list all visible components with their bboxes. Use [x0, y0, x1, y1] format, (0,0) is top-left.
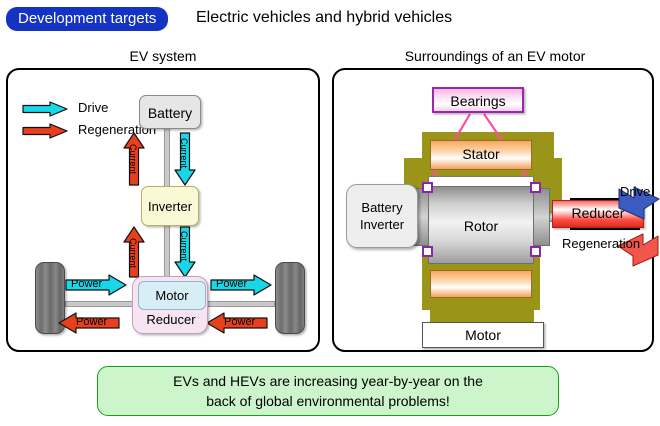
- bearing-marker-top-right: [530, 182, 541, 193]
- wire-battery-inverter: [164, 127, 170, 189]
- development-targets-badge: Development targets: [6, 7, 168, 31]
- current-label-up: Current: [128, 144, 138, 174]
- battery-inverter-line2: Inverter: [360, 216, 404, 233]
- axle-left: [65, 301, 135, 307]
- stator-bottom: [430, 270, 532, 298]
- page-title: Electric vehicles and hybrid vehicles: [196, 8, 452, 28]
- legend-label-drive: Drive: [78, 100, 108, 115]
- header: Development targets Electric vehicles an…: [0, 4, 660, 34]
- summary-banner: EVs and HEVs are increasing year-by-year…: [97, 366, 559, 416]
- power-label-regen-left: Power: [76, 316, 107, 328]
- diagram-root: Development targets Electric vehicles an…: [0, 0, 660, 426]
- battery-inverter-box: Battery Inverter: [346, 184, 418, 248]
- battery-box: Battery: [139, 95, 201, 129]
- current-label-up-2: Current: [128, 238, 138, 268]
- banner-line-2: back of global environmental problems!: [206, 391, 450, 411]
- current-arrow-down-drive-2: Current: [174, 226, 196, 278]
- power-arrow-drive-left: Power: [65, 274, 127, 296]
- endbell-right: [532, 188, 550, 246]
- power-label-drive-right: Power: [216, 278, 247, 290]
- wire-inverter-motor: [164, 222, 170, 280]
- inverter-box: Inverter: [141, 186, 199, 226]
- regeneration-arrow-icon: [22, 123, 68, 139]
- right-panel-title: Surroundings of an EV motor: [338, 48, 652, 64]
- tire-right: [275, 262, 305, 334]
- bearing-marker-bottom-left: [422, 246, 433, 257]
- rotor-box: Rotor: [428, 186, 534, 264]
- current-arrow-up-regen-2: Current: [123, 226, 145, 278]
- bearing-marker-top-left: [422, 182, 433, 193]
- power-label-regen-right: Power: [224, 316, 255, 328]
- axle-right: [205, 301, 275, 307]
- power-arrow-drive-right: Power: [210, 274, 272, 296]
- motor-label: Motor: [138, 281, 206, 310]
- ev-motor-panel: Bearings Stator Rotor Battery Inverter R…: [332, 68, 654, 352]
- current-label-down: Current: [179, 138, 189, 168]
- stator-top: Stator: [430, 140, 532, 170]
- drive-label: Drive: [620, 184, 650, 199]
- current-arrow-down-drive: Current: [174, 132, 196, 186]
- reducer-label: Reducer: [133, 309, 209, 331]
- ev-system-panel: Drive Regeneration Battery: [6, 68, 320, 352]
- regeneration-label: Regeneration: [562, 236, 640, 251]
- battery-inverter-line1: Battery: [361, 199, 402, 216]
- current-label-down-2: Current: [179, 231, 189, 261]
- banner-line-1: EVs and HEVs are increasing year-by-year…: [173, 371, 483, 391]
- current-arrow-up-regen: Current: [123, 132, 145, 186]
- motor-reducer-assembly: Motor Reducer: [132, 276, 208, 334]
- motor-box-label: Motor: [422, 322, 544, 348]
- drive-arrow-icon: [22, 101, 68, 117]
- bearing-marker-bottom-right: [530, 246, 541, 257]
- power-arrow-regen-left: Power: [58, 312, 120, 334]
- bearings-box: Bearings: [432, 87, 524, 113]
- power-arrow-regen-right: Power: [206, 312, 268, 334]
- left-panel-title: EV system: [8, 48, 318, 64]
- power-label-drive-left: Power: [71, 278, 102, 290]
